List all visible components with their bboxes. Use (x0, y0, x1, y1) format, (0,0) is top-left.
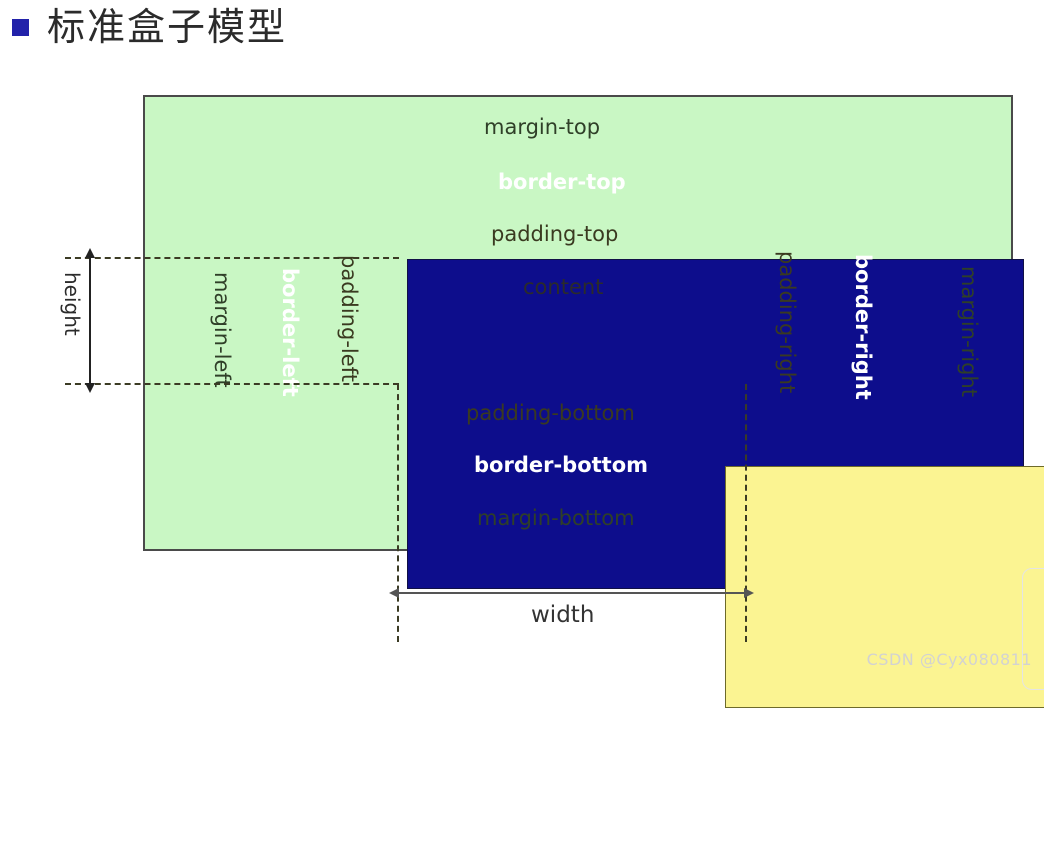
box-model-diagram: margin-top border-top padding-top conten… (0, 0, 1044, 683)
label-padding-bottom: padding-bottom (466, 403, 635, 424)
guide-line-content-left (397, 384, 399, 642)
guide-line-content-right (745, 384, 747, 642)
label-padding-top: padding-top (491, 224, 618, 245)
label-border-left: border-left (279, 268, 300, 397)
width-dimension-arrow (398, 592, 745, 594)
label-margin-top: margin-top (484, 117, 600, 138)
label-margin-right: margin-right (958, 266, 979, 397)
guide-line-content-top (65, 257, 399, 259)
label-border-bottom: border-bottom (474, 455, 648, 476)
label-padding-right: padding-right (776, 251, 797, 393)
padding-box (725, 466, 1044, 708)
label-border-top: border-top (498, 172, 626, 193)
label-padding-left: padding-left (338, 255, 359, 382)
label-margin-bottom: margin-bottom (477, 508, 635, 529)
label-content: content (523, 277, 603, 298)
watermark: CSDN @Cyx080811 (867, 650, 1032, 669)
height-dimension-arrow (89, 257, 91, 384)
guide-line-content-bottom (65, 383, 399, 385)
margin-box (143, 95, 1013, 551)
label-height: height (60, 272, 84, 336)
label-width: width (531, 602, 594, 628)
panel-edge-decoration (1022, 568, 1044, 690)
label-margin-left: margin-left (211, 272, 232, 388)
label-border-right: border-right (852, 254, 873, 400)
